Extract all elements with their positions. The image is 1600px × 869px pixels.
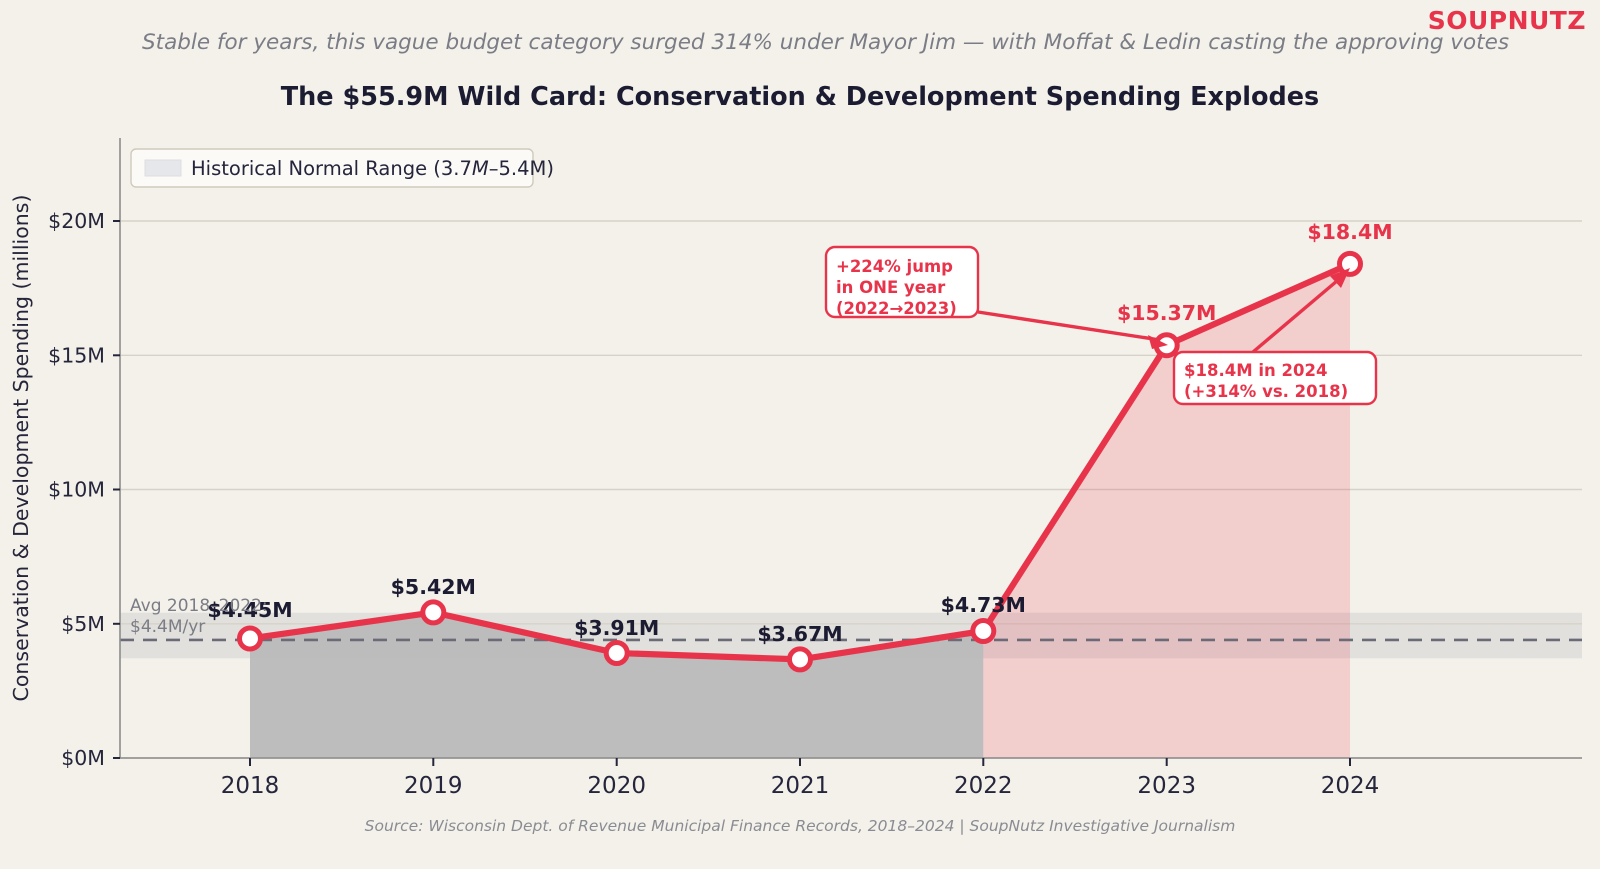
x-tick-label-2018: 2018 (221, 773, 280, 799)
point-label-2022: $4.73M (941, 593, 1026, 617)
point-label-2023: $15.37M (1117, 301, 1217, 325)
x-tick-label-2024: 2024 (1321, 773, 1380, 799)
point-label-2019: $5.42M (391, 575, 476, 599)
point-label-2024: $18.4M (1307, 220, 1392, 244)
point-label-2021: $3.67M (757, 622, 842, 646)
chart-page: SOUPNUTZ Stable for years, this vague bu… (0, 0, 1600, 869)
y-tick-label-20m: $20M (48, 209, 105, 233)
y-tick-label-10m: $10M (48, 478, 105, 502)
annotation-jump-box[interactable]: +224% jump in ONE year (2022→2023) (826, 247, 978, 318)
annotation-jump-line2: in ONE year (836, 278, 946, 297)
y-axis-title: Conservation & Development Spending (mil… (9, 195, 33, 702)
line-chart-svg: $4.45M $5.42M $3.91M $3.67M $4.73M $15.3… (0, 0, 1600, 869)
x-tick-label-2023: 2023 (1137, 773, 1196, 799)
annotation-2024-line1: $18.4M in 2024 (1184, 361, 1327, 380)
chart-figure: $4.45M $5.42M $3.91M $3.67M $4.73M $15.3… (0, 0, 1600, 869)
x-axis-ticks: 2018 2019 2020 2021 2022 2023 2024 (221, 758, 1380, 799)
avg-label-line2: $4.4M/yr (130, 617, 205, 637)
annotation-jump-line3: (2022→2023) (836, 299, 957, 318)
legend-label-historical-range: Historical Normal Range (3.7M–5.4M) (191, 157, 554, 180)
data-point-2019[interactable] (423, 602, 444, 623)
y-tick-label-15m: $15M (48, 343, 105, 367)
data-point-2021[interactable] (790, 649, 811, 670)
y-axis-ticks: $20M $15M $10M $5M $0M (48, 209, 120, 770)
avg-label-line1: Avg 2018–2022: (130, 596, 268, 616)
y-tick-label-0m: $0M (61, 746, 105, 770)
source-footnote: Source: Wisconsin Dept. of Revenue Munic… (0, 817, 1600, 835)
annotation-2024-line2: (+314% vs. 2018) (1184, 382, 1348, 401)
data-point-2022[interactable] (973, 621, 994, 642)
x-tick-label-2019: 2019 (404, 773, 463, 799)
point-label-2020: $3.91M (574, 616, 659, 640)
legend-swatch-historical-range (145, 160, 181, 176)
x-tick-label-2021: 2021 (771, 773, 830, 799)
x-tick-label-2022: 2022 (954, 773, 1013, 799)
annotation-2024-box[interactable]: $18.4M in 2024 (+314% vs. 2018) (1174, 352, 1376, 404)
chart-legend[interactable]: Historical Normal Range (3.7M–5.4M) (131, 149, 554, 187)
data-point-2018[interactable] (240, 628, 261, 649)
data-point-2020[interactable] (606, 643, 627, 664)
y-tick-label-5m: $5M (61, 612, 105, 636)
annotation-jump-line1: +224% jump (836, 257, 953, 276)
x-tick-label-2020: 2020 (587, 773, 646, 799)
